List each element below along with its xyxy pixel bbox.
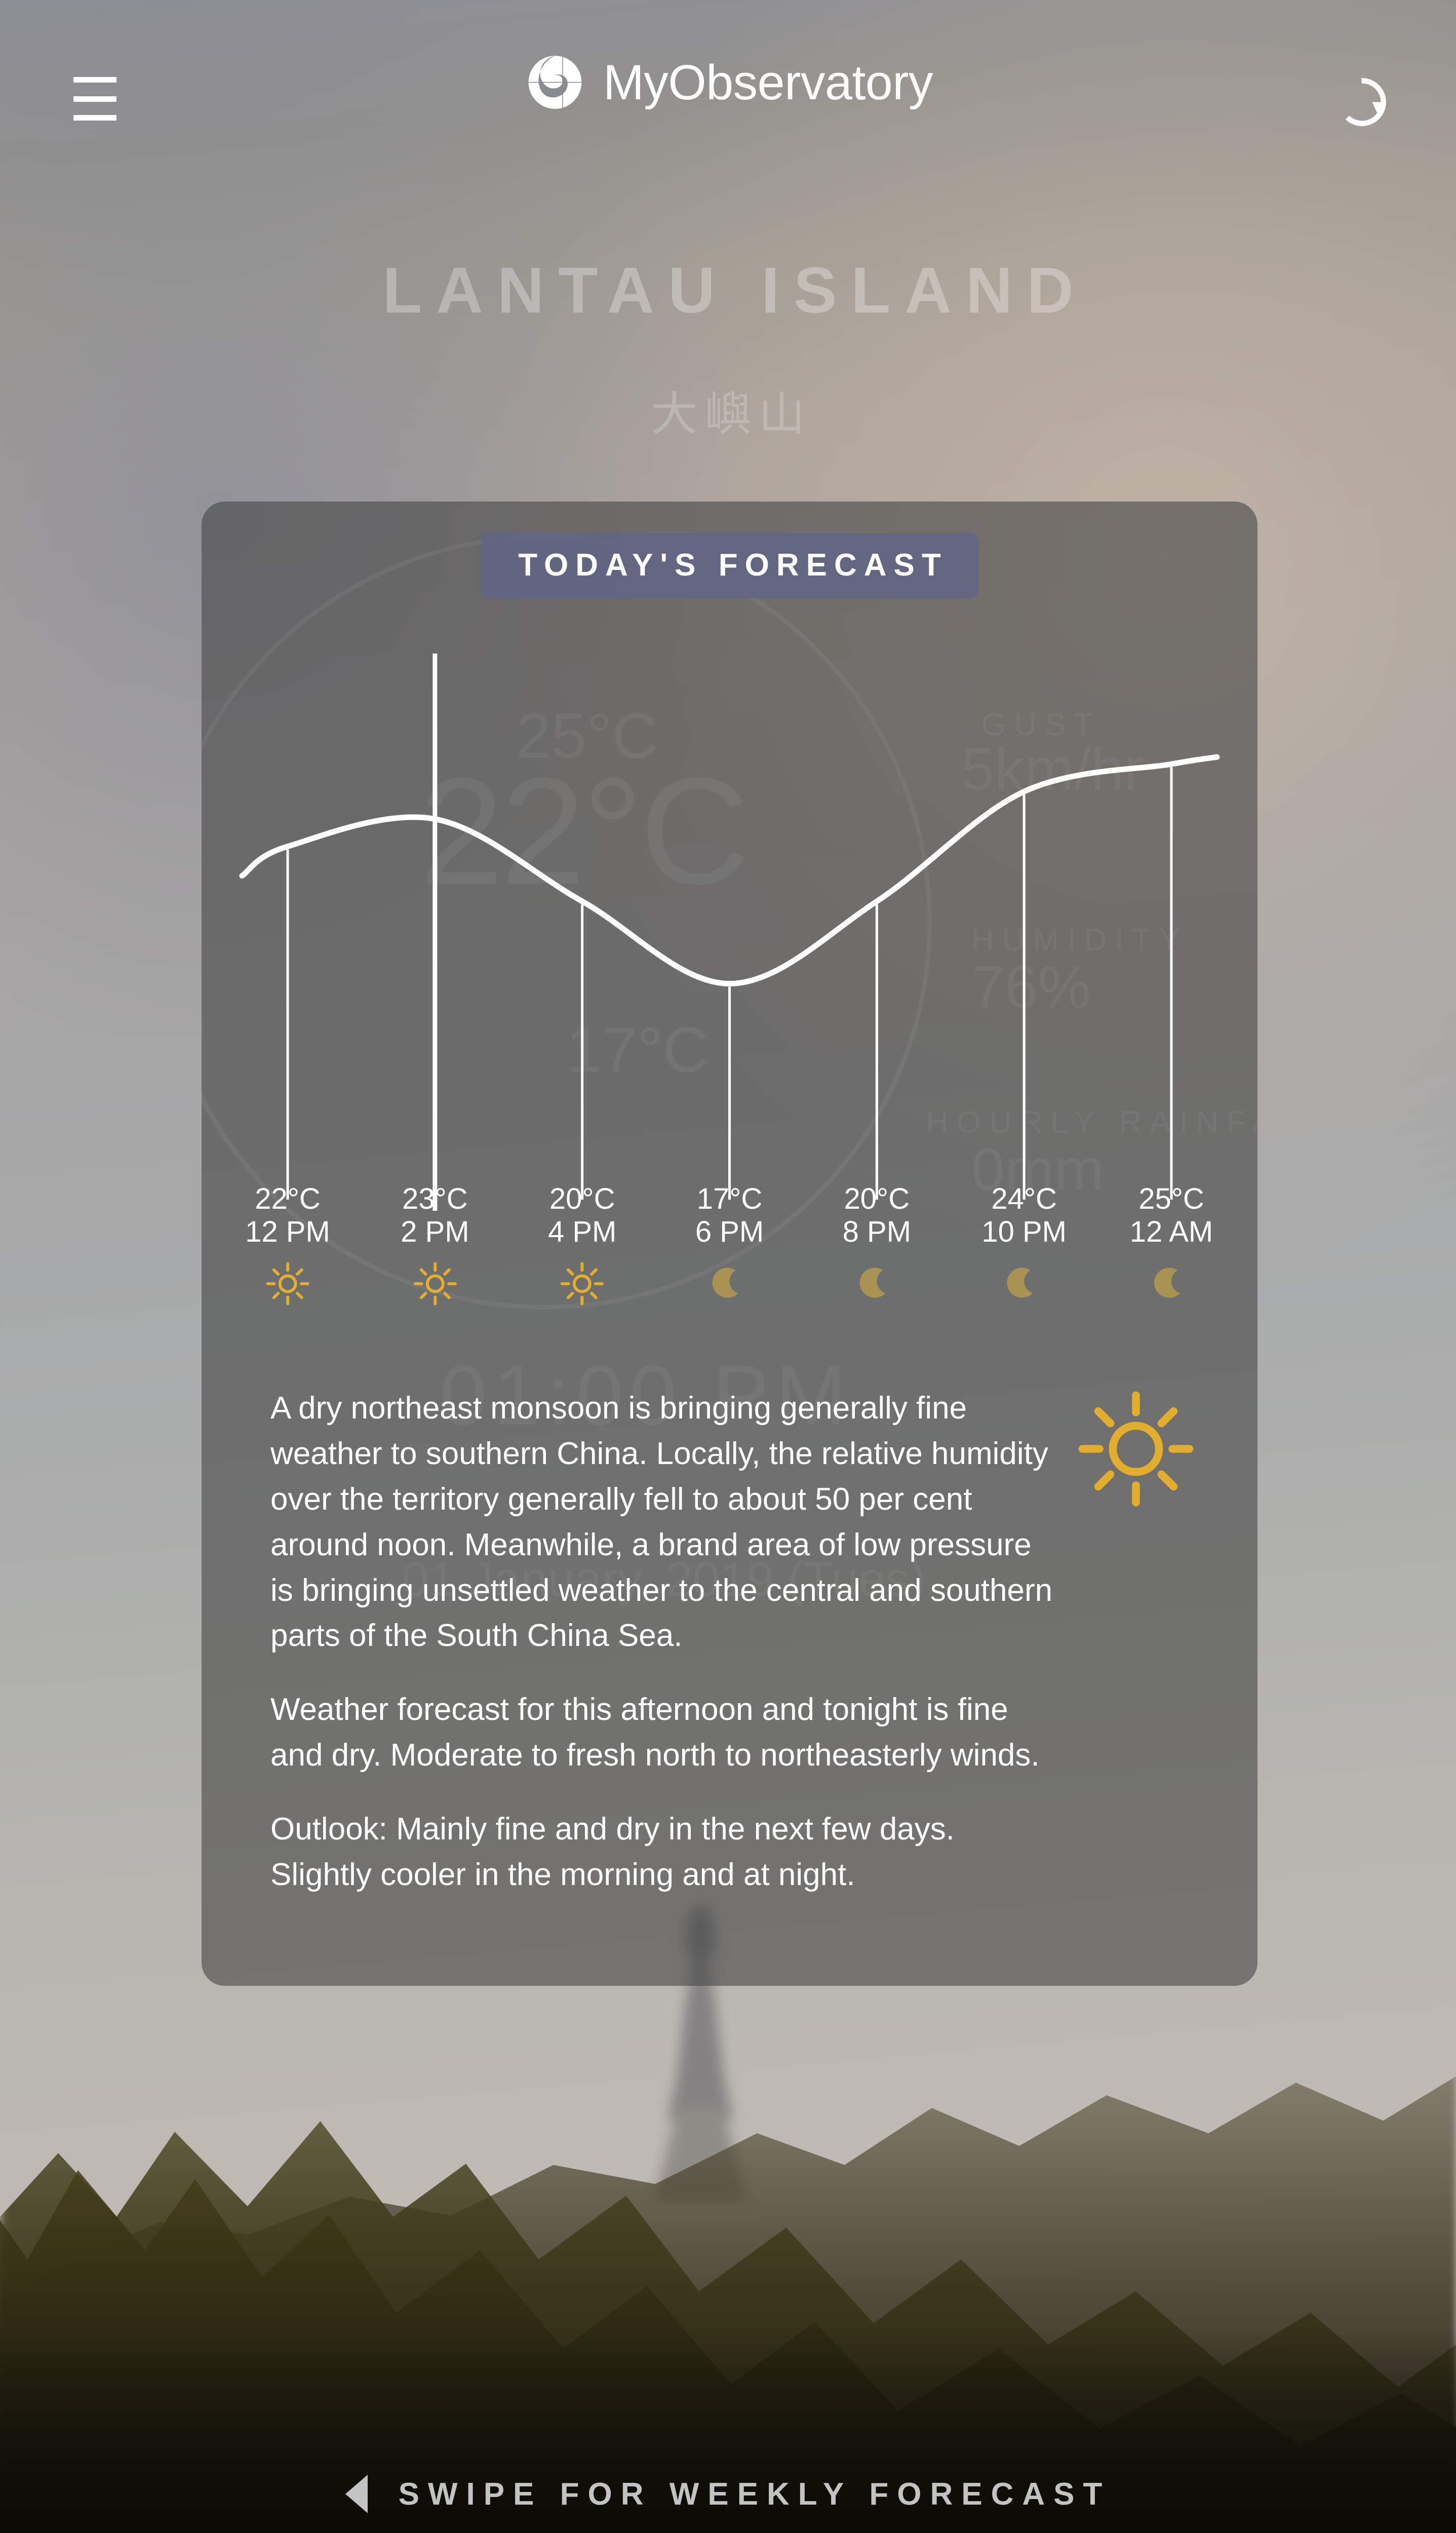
sun-icon	[245, 1261, 330, 1307]
chart-tick: 20°C4 PM	[548, 1183, 616, 1307]
tick-temperature: 23°C	[401, 1183, 469, 1216]
chart-tick: 25°C12 AM	[1130, 1183, 1213, 1307]
tick-temperature: 17°C	[695, 1183, 764, 1216]
tick-temperature: 24°C	[981, 1183, 1067, 1216]
sun-icon	[1075, 1388, 1197, 1510]
tick-time: 12 PM	[245, 1216, 330, 1249]
moon-icon	[1130, 1261, 1213, 1307]
refresh-icon[interactable]	[1332, 72, 1391, 132]
sun-icon	[401, 1261, 469, 1307]
moon-icon	[981, 1261, 1067, 1307]
location-name-zh: 大嶼山	[0, 391, 1456, 438]
tick-time: 12 AM	[1130, 1216, 1213, 1249]
sun-icon	[548, 1261, 616, 1307]
weather-app-screen: MyObservatory LANTAU ISLAND 大嶼山 25°C 22°…	[0, 0, 1456, 2533]
chart-tick: 23°C2 PM	[401, 1183, 469, 1307]
tick-time: 2 PM	[401, 1216, 469, 1249]
chart-tick: 24°C10 PM	[981, 1183, 1067, 1307]
tick-temperature: 20°C	[548, 1183, 616, 1216]
chart-tick: 20°C8 PM	[843, 1183, 911, 1307]
moon-icon	[695, 1261, 764, 1307]
tick-time: 4 PM	[548, 1216, 616, 1249]
forecast-paragraph: A dry northeast monsoon is bringing gene…	[270, 1386, 1060, 1659]
swipe-weekly-forecast-button[interactable]: SWIPE FOR WEEKLY FORECAST	[0, 2475, 1456, 2513]
tick-time: 6 PM	[695, 1216, 764, 1249]
tick-temperature: 22°C	[245, 1183, 330, 1216]
tick-temperature: 20°C	[843, 1183, 911, 1216]
chart-tick: 17°C6 PM	[695, 1183, 764, 1307]
forecast-text-block: A dry northeast monsoon is bringing gene…	[270, 1386, 1060, 1898]
chevron-left-icon	[345, 2475, 368, 2513]
chart-tick-labels: 22°C12 PM 23°C2 PM 20°C4 PM 17°C6 PM 20°…	[202, 1183, 1257, 1350]
chart-tick: 22°C12 PM	[245, 1183, 330, 1307]
forecast-paragraph: Weather forecast for this afternoon and …	[270, 1687, 1060, 1778]
forecast-paragraph: Outlook: Mainly fine and dry in the next…	[270, 1807, 1060, 1898]
location-name-en: LANTAU ISLAND	[0, 258, 1456, 323]
hamburger-menu-icon[interactable]	[73, 77, 116, 121]
moon-icon	[843, 1261, 911, 1307]
swipe-label: SWIPE FOR WEEKLY FORECAST	[390, 2476, 1111, 2512]
brand-block: MyObservatory	[523, 51, 933, 114]
todays-forecast-card: 25°C 22°C 17°C GUST 5km/hr HUMIDITY 76% …	[202, 502, 1257, 1986]
tick-temperature: 25°C	[1130, 1183, 1213, 1216]
app-title: MyObservatory	[603, 58, 933, 107]
todays-forecast-badge: TODAY'S FORECAST	[481, 533, 978, 598]
app-header: MyObservatory	[0, 0, 1456, 213]
hko-logo-icon	[523, 51, 586, 114]
hourly-temperature-chart[interactable]	[202, 654, 1257, 1211]
tick-time: 10 PM	[981, 1216, 1067, 1249]
tick-time: 8 PM	[843, 1216, 911, 1249]
